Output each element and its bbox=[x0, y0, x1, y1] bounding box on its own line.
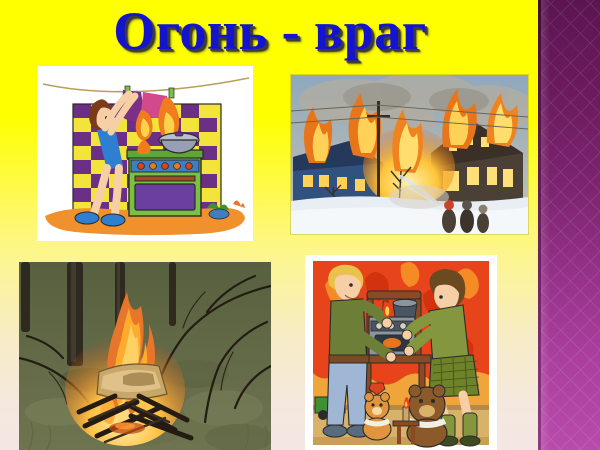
picture-houses-burning bbox=[291, 75, 528, 234]
picture-kitchen-fire bbox=[37, 66, 253, 241]
kitchen-fire-artwork bbox=[37, 66, 253, 241]
slide-title: Огонь - враг bbox=[0, 0, 540, 64]
band-gloss bbox=[541, 0, 550, 450]
purple-decorative-band bbox=[538, 0, 600, 450]
picture-campfire bbox=[19, 262, 271, 450]
band-edge-line bbox=[538, 0, 541, 450]
picture-children-stove bbox=[305, 255, 497, 450]
campfire-artwork bbox=[19, 262, 271, 450]
slide-canvas: Огонь - враг bbox=[0, 0, 600, 450]
children-stove-artwork bbox=[305, 255, 497, 450]
houses-burning-artwork bbox=[291, 75, 528, 234]
